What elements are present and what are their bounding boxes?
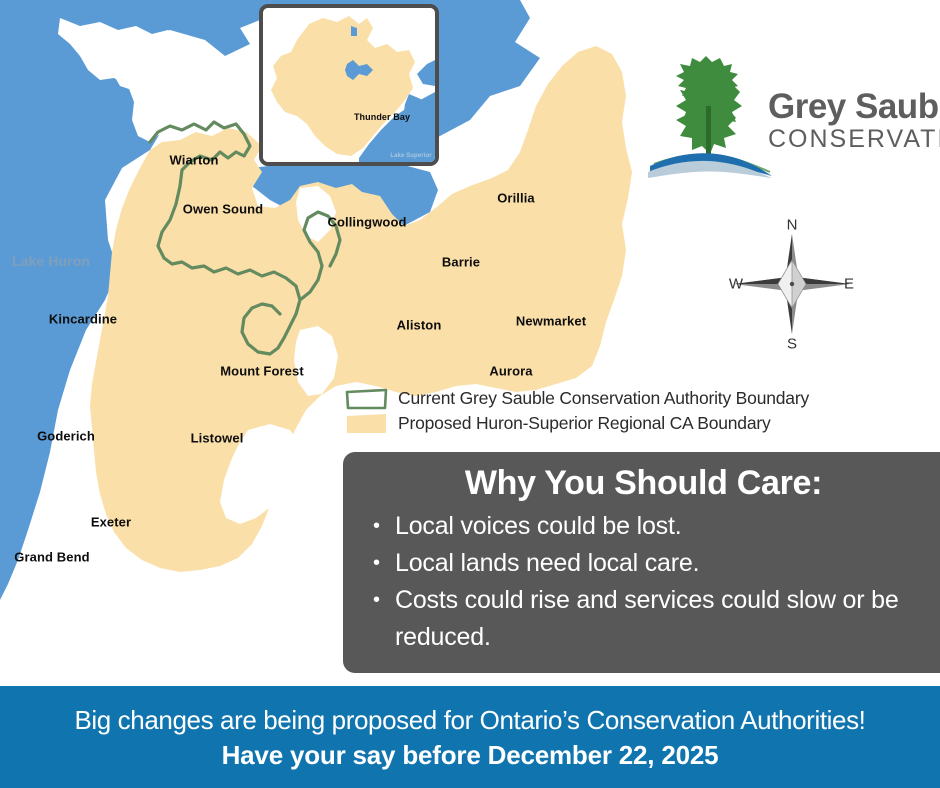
banner-headline: Big changes are being proposed for Ontar… [74,702,865,738]
care-bullet-item: Costs could rise and services could slow… [395,582,926,656]
care-panel-bullet-list: Local voices could be lost. Local lands … [361,508,926,656]
compass-label-south: S [787,336,797,353]
legend-swatch-proposed-boundary [345,413,388,435]
logo-wordmark: Grey Sauble CONSERVATION [768,88,938,153]
care-bullet-item: Local lands need local care. [395,545,926,582]
grey-sauble-conservation-logo: Grey Sauble CONSERVATION [648,50,933,178]
map-legend: Current Grey Sauble Conservation Authori… [345,386,905,436]
inset-map-thunder-bay: Thunder Bay Lake Superior [259,4,439,166]
pine-tree-over-water-icon [648,50,774,178]
compass-label-west: W [729,276,743,293]
legend-label-proposed-boundary: Proposed Huron-Superior Regional CA Boun… [398,413,771,434]
compass-label-north: N [787,217,798,234]
care-panel-title: Why You Should Care: [361,460,926,506]
compass-rose: N E S W [722,212,862,357]
call-to-action-banner: Big changes are being proposed for Ontar… [0,686,940,788]
banner-deadline: Have your say before December 22, 2025 [222,738,719,772]
logo-title-text: Grey Sauble [768,88,938,126]
legend-row-current-boundary: Current Grey Sauble Conservation Authori… [345,386,905,411]
legend-swatch-current-boundary [345,388,388,410]
compass-label-east: E [844,276,854,293]
compass-star-shape [734,234,850,334]
care-bullet-item: Local voices could be lost. [395,508,926,545]
poster-root: Wiarton Owen Sound Collingwood Orillia B… [0,0,940,788]
legend-row-proposed-boundary: Proposed Huron-Superior Regional CA Boun… [345,411,905,436]
tree-trunk-shape [706,106,711,160]
logo-subtitle-text: CONSERVATION [768,126,938,153]
legend-label-current-boundary: Current Grey Sauble Conservation Authori… [398,388,809,409]
inset-map-svg [263,8,435,162]
why-you-should-care-panel: Why You Should Care: Local voices could … [343,452,940,673]
